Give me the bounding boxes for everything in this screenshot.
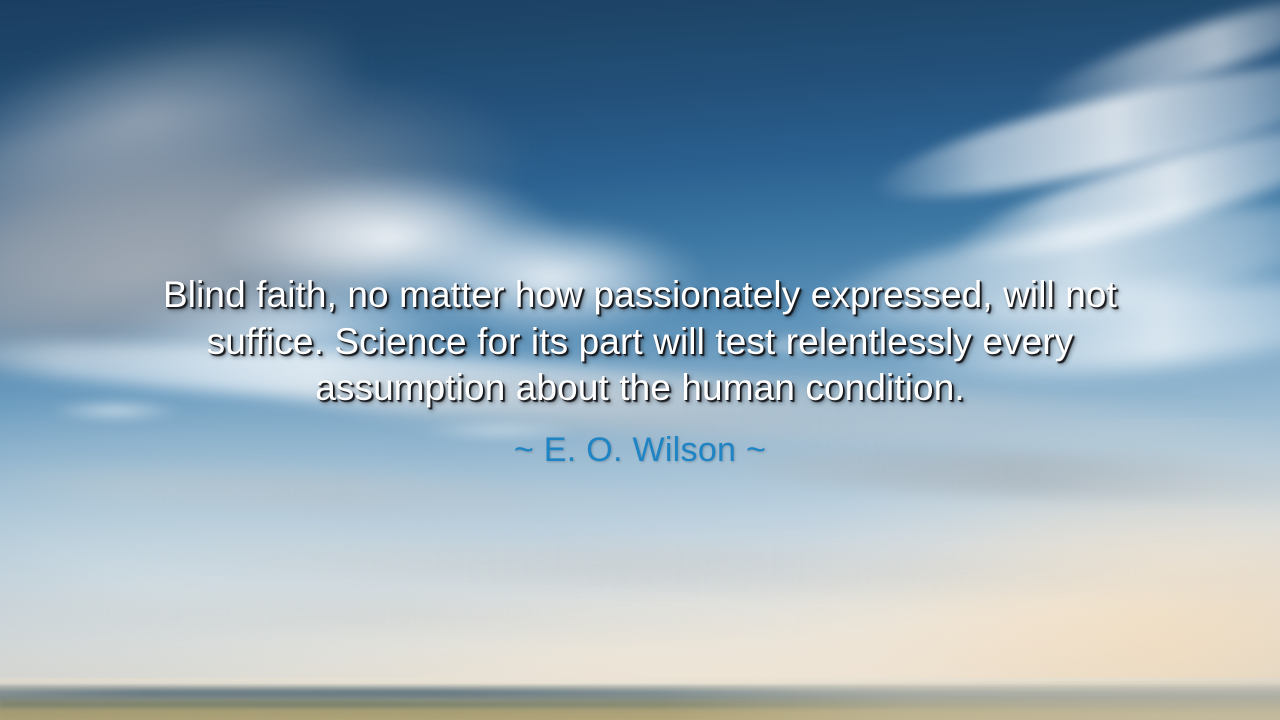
quote-wallpaper: Blind faith, no matter how passionately … (0, 0, 1280, 720)
quote-text: Blind faith, no matter how passionately … (105, 272, 1175, 412)
quote-block: Blind faith, no matter how passionately … (105, 272, 1175, 471)
quote-attribution: ~ E. O. Wilson ~ (105, 412, 1175, 471)
